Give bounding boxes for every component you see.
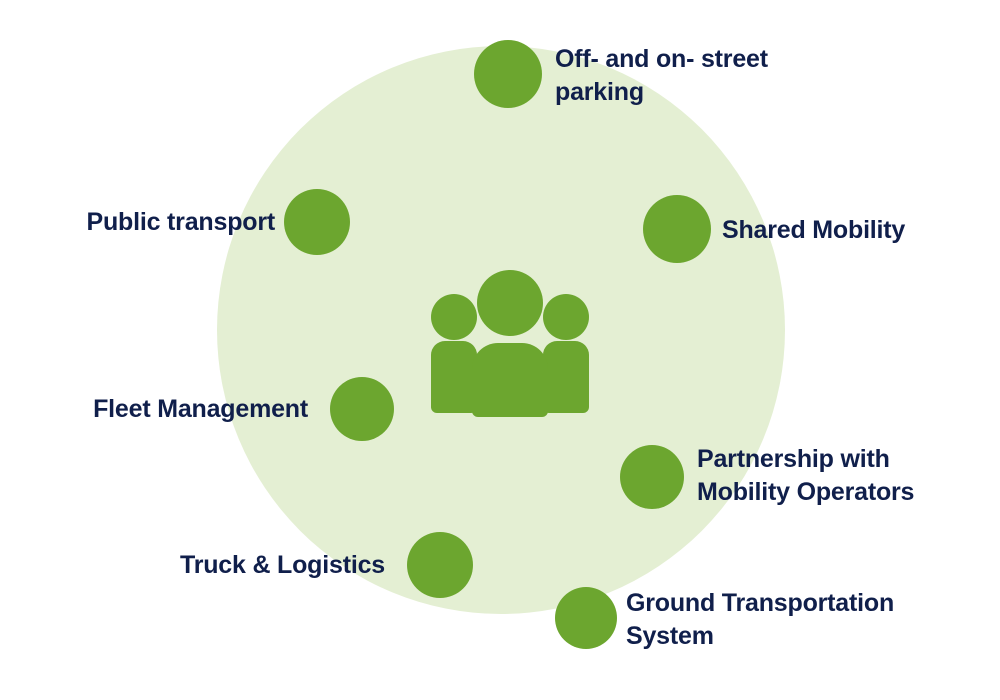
node-label-public-transport: Public transport [20, 206, 275, 239]
node-label-fleet-management: Fleet Management [20, 393, 308, 426]
node-dot-shared-mobility[interactable] [643, 195, 711, 263]
group-of-people-icon [415, 265, 605, 435]
node-dot-truck-and-logistics[interactable] [407, 532, 473, 598]
diagram-canvas: Off- and on- street parking Public trans… [0, 0, 1000, 700]
node-label-shared-mobility: Shared Mobility [722, 214, 987, 247]
node-label-truck-and-logistics: Truck & Logistics [100, 549, 385, 582]
node-dot-fleet-management[interactable] [330, 377, 394, 441]
node-label-partnership-with-mobility-operators: Partnership with Mobility Operators [697, 443, 997, 509]
node-dot-partnership-with-mobility-operators[interactable] [620, 445, 684, 509]
node-dot-off-and-on-street-parking[interactable] [474, 40, 542, 108]
node-label-ground-transportation-system: Ground Transportation System [626, 587, 991, 653]
node-dot-ground-transportation-system[interactable] [555, 587, 617, 649]
node-label-off-and-on-street-parking: Off- and on- street parking [555, 43, 895, 109]
node-dot-public-transport[interactable] [284, 189, 350, 255]
